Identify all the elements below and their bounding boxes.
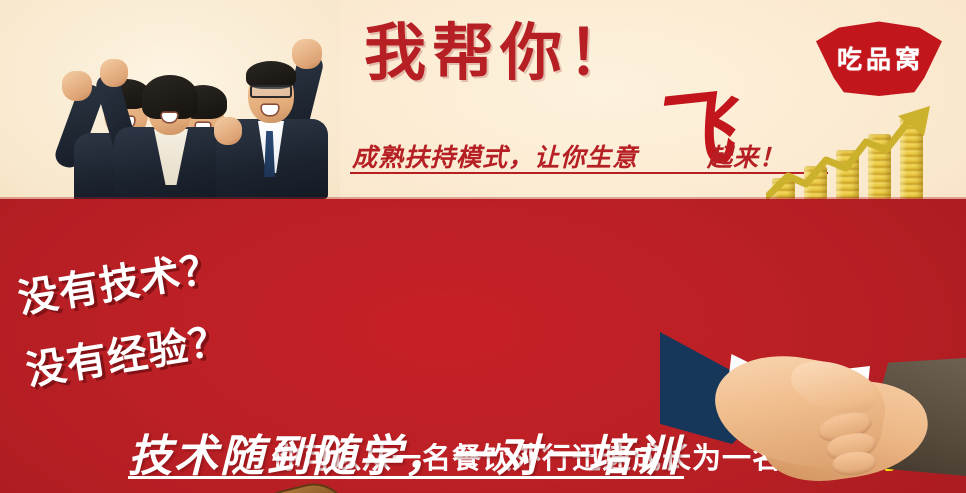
tagline-block: 技术随到随学，一对一培训 — [128, 420, 688, 486]
subtitle-main: 成熟扶持模式，让你生意 — [352, 138, 638, 174]
fist-lower — [214, 117, 242, 145]
tagline-text: 技术随到随学，一对一培训 — [128, 420, 680, 484]
glasses-icon — [250, 85, 292, 98]
page-title: 我帮你！ — [364, 22, 636, 84]
person-front-right — [212, 39, 340, 199]
top-section: 我帮你！ 吃 品 窝 成熟扶持模式，让你生意 飞 起来！ — [0, 0, 966, 199]
logo-char-2: 品 — [866, 40, 892, 76]
tagline-underline — [128, 476, 684, 479]
people-photo — [0, 0, 340, 199]
subtitle-block: 成熟扶持模式，让你生意 飞 起来！ — [352, 134, 822, 184]
handshake-graphic — [640, 330, 966, 493]
fist — [292, 39, 322, 69]
growth-chart-graphic — [766, 104, 941, 199]
logo-characters: 吃 品 窝 — [816, 20, 942, 96]
logo-char-3: 窝 — [895, 40, 921, 76]
question-no-experience: 没有经验？ — [21, 307, 233, 396]
treasure-chest-graphic — [238, 487, 366, 493]
red-section: 没有技术？ 没有经验？ 你可以从一名餐饮外行迅速成长为一名餐饮好手 你可以店面再… — [0, 199, 966, 493]
up-arrow-icon — [766, 104, 941, 199]
logo-char-1: 吃 — [837, 40, 863, 76]
subtitle-underline — [350, 172, 828, 174]
promo-banner: 我帮你！ 吃 品 窝 成熟扶持模式，让你生意 飞 起来！ — [0, 0, 966, 493]
fist — [62, 71, 92, 101]
brand-logo[interactable]: 吃 品 窝 — [816, 20, 942, 96]
questions-block: 没有技术？ 没有经验？ — [14, 261, 254, 401]
